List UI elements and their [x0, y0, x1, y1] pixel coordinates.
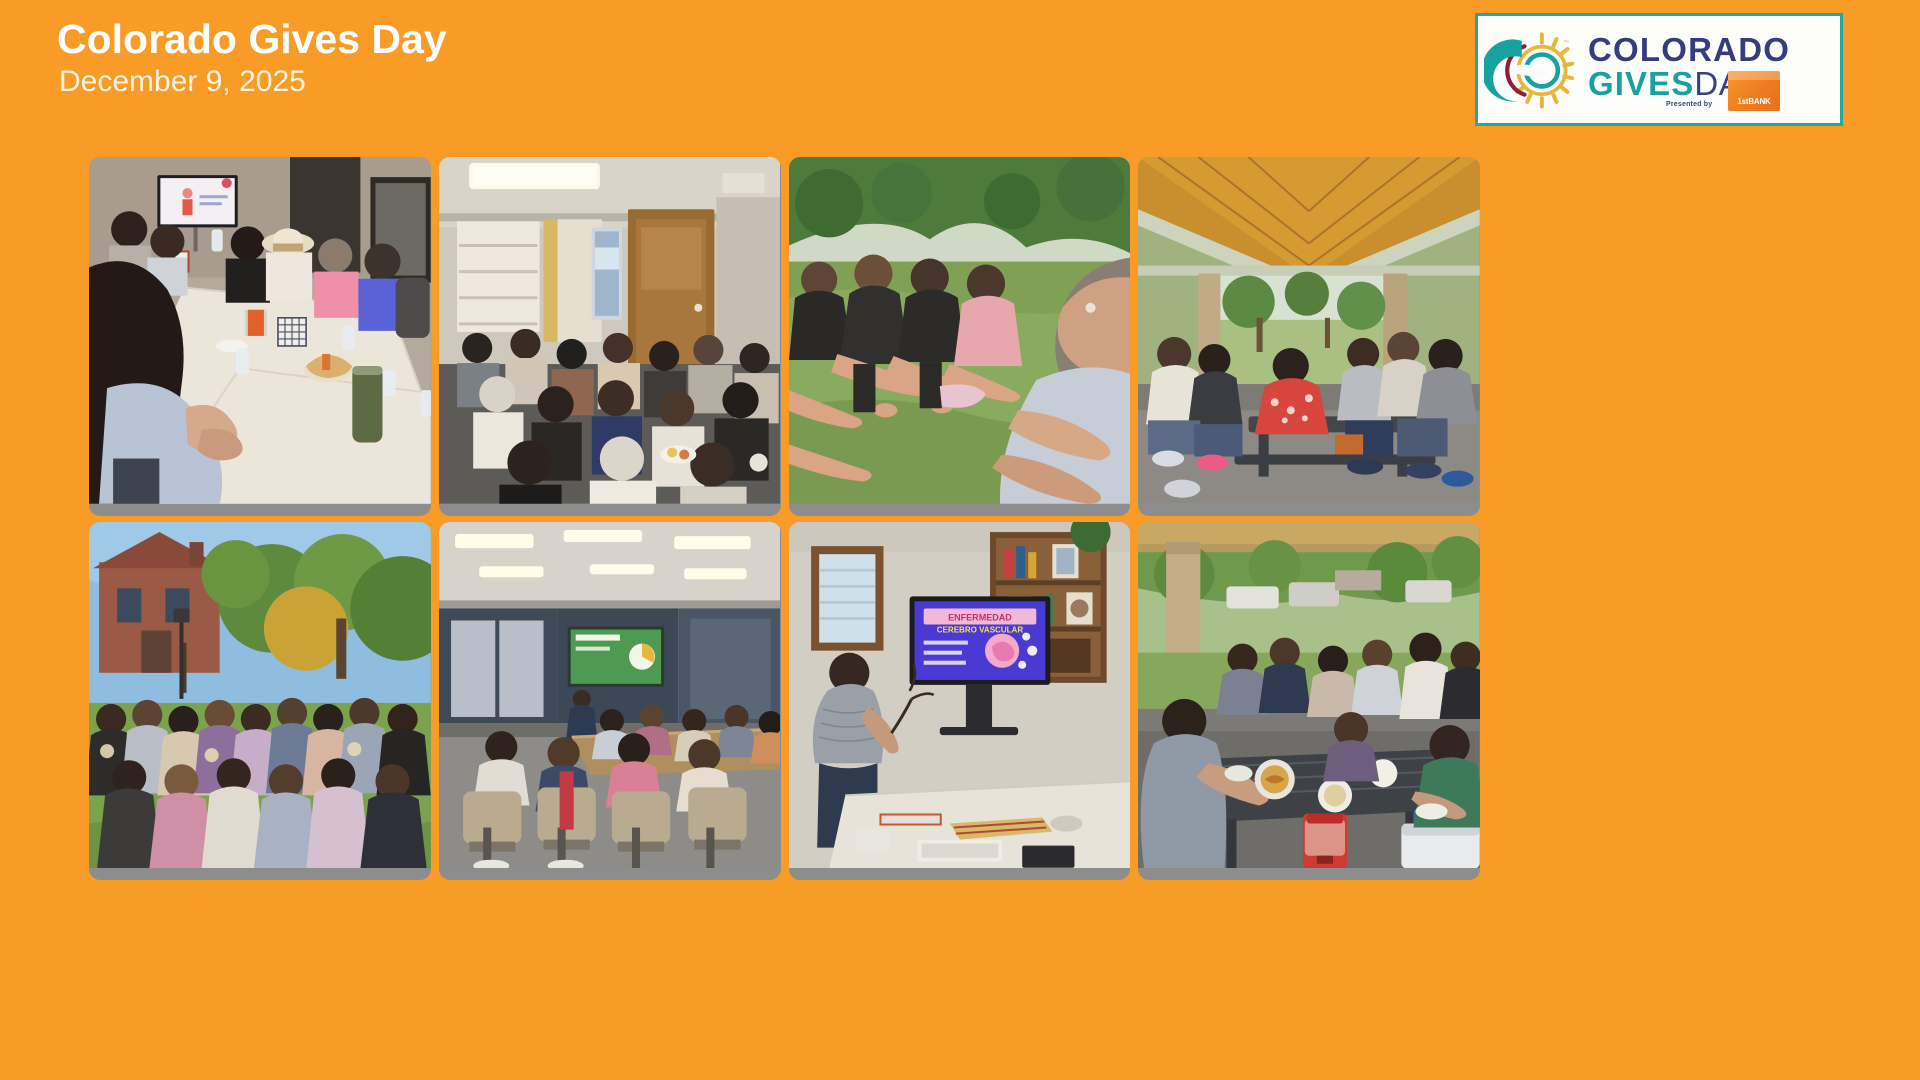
photo-outdoor-circle-hands: Women standing in a circle on grass reac… — [789, 157, 1131, 516]
photo-gallery-grid: Group of women seated around a long whit… — [89, 157, 1480, 880]
photo-5-scene — [89, 522, 431, 869]
slide-root: Colorado Gives Day December 9, 2025 — [0, 0, 1920, 1080]
event-date: December 9, 2025 — [59, 66, 447, 98]
photo-6-scene — [439, 522, 781, 869]
logo-text-colorado: COLORADO — [1588, 33, 1790, 66]
logo-presented-by-label: Presented by — [1666, 101, 1712, 108]
photo-outdoor-meal-tables: People serving and eating food at metal … — [1138, 522, 1480, 881]
photo-speaker-with-tv-slide: ENFERMEDAD CEREBRO VASCULAR — [789, 522, 1131, 881]
photo-1-scene — [89, 157, 431, 504]
page-title: Colorado Gives Day — [57, 18, 447, 61]
photo-presentation-meeting-room: Meeting room with attendees facing a gre… — [439, 522, 781, 881]
logo-wordmark: COLORADO GIVES DAY Presented by 1stBANK — [1578, 27, 1836, 113]
svg-text:™: ™ — [1563, 39, 1569, 46]
photo-2-scene — [439, 157, 781, 504]
slide-header: Colorado Gives Day December 9, 2025 — [0, 0, 1920, 150]
photo-conference-table-discussion: Group of women seated around a long whit… — [89, 157, 431, 516]
svg-text:ENFERMEDAD: ENFERMEDAD — [948, 612, 1012, 622]
photo-7-scene: ENFERMEDAD CEREBRO VASCULAR — [789, 522, 1131, 869]
colorado-gives-day-logo: ™ COLORADO GIVES DAY Presented by 1stBAN… — [1475, 13, 1843, 126]
sponsor-name: 1stBANK — [1728, 97, 1780, 106]
photo-group-portrait-outdoors: Large group portrait of women standing o… — [89, 522, 431, 881]
photo-8-scene — [1138, 522, 1480, 869]
photo-park-pavilion-gathering: People gathered at picnic tables under a… — [1138, 157, 1480, 516]
logo-text-gives: GIVES — [1588, 67, 1694, 100]
photo-classroom-audience: Audience seated in rows of chairs in a c… — [439, 157, 781, 516]
title-block: Colorado Gives Day December 9, 2025 — [57, 18, 447, 98]
photo-4-scene — [1138, 157, 1480, 504]
photo-3-scene — [789, 157, 1131, 504]
svg-text:CEREBRO VASCULAR: CEREBRO VASCULAR — [936, 625, 1023, 634]
gives-day-sunburst-icon: ™ — [1484, 28, 1576, 112]
